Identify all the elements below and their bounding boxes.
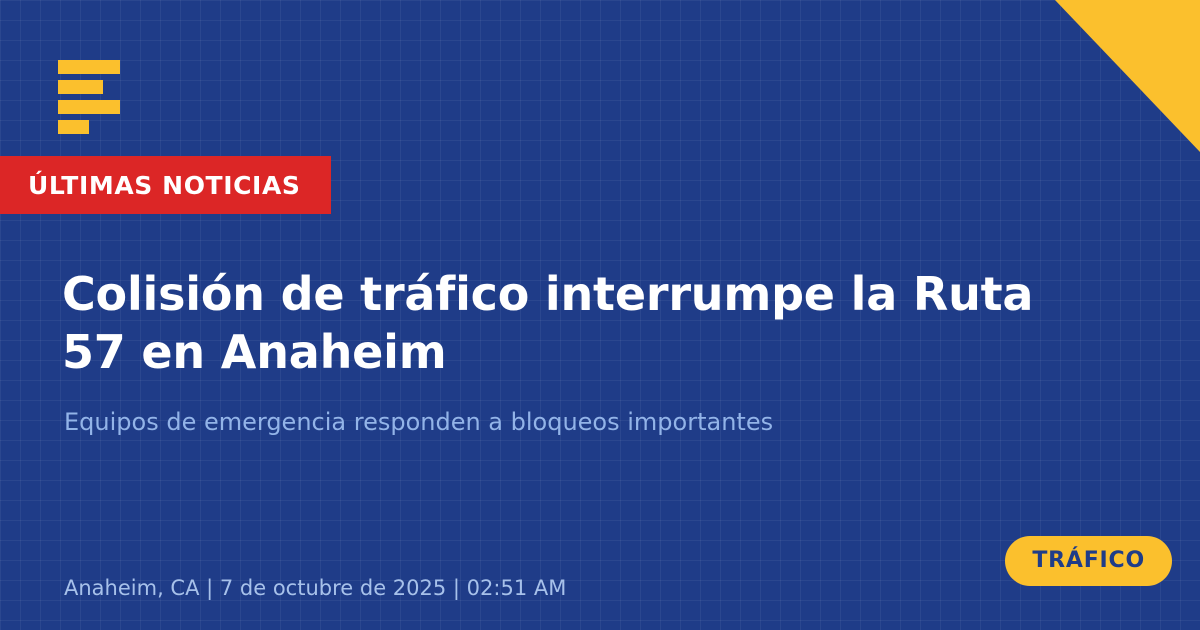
logo-bar-4-icon	[58, 120, 89, 134]
logo-bar-2-icon	[58, 80, 103, 94]
category-badge: TRÁFICO	[1005, 536, 1172, 586]
category-badge-label: TRÁFICO	[1032, 550, 1145, 572]
headline-subtitle: Equipos de emergencia responden a bloque…	[64, 406, 1064, 438]
logo-bar-1-icon	[58, 60, 120, 74]
news-logo	[58, 60, 128, 128]
page-title: Colisión de tráfico interrumpe la Ruta 5…	[62, 265, 1152, 381]
corner-wedge-triangle-icon	[1047, 0, 1200, 152]
breaking-news-banner: ÚLTIMAS NOTICIAS	[0, 156, 331, 214]
headline-line-2: 57 en Anaheim	[62, 323, 1152, 381]
meta-line: Anaheim, CA | 7 de octubre de 2025 | 02:…	[64, 575, 566, 601]
headline-line-1: Colisión de tráfico interrumpe la Ruta	[62, 265, 1152, 323]
breaking-news-label: ÚLTIMAS NOTICIAS	[28, 173, 301, 198]
logo-bar-3-icon	[58, 100, 120, 114]
breaking-news-card: ÚLTIMAS NOTICIAS Colisión de tráfico int…	[0, 0, 1200, 630]
